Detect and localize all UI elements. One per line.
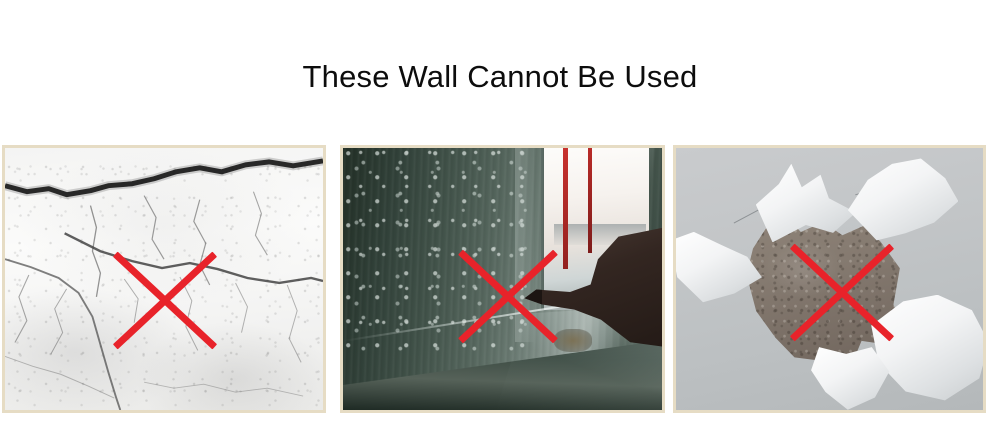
door-trim-red [563, 148, 568, 269]
water-droplets-texture [343, 148, 541, 352]
crack-network-overlay [5, 148, 323, 410]
page-title: These Wall Cannot Be Used [0, 58, 1000, 96]
panel-cracked-wall [2, 145, 326, 413]
panel-peeling-wall [673, 145, 986, 413]
peeling-wall-photo [676, 148, 983, 410]
cracked-wall-photo [5, 148, 323, 410]
wallpaper-flap-left [676, 232, 762, 305]
panel-strip [0, 145, 1000, 415]
floor-damp-patch [554, 329, 592, 353]
door-trim-red-secondary [588, 148, 592, 253]
wet-wall-base [343, 148, 662, 410]
wallpaper-surface [676, 148, 983, 410]
panel-wet-wall [340, 145, 665, 413]
wet-wall-photo [343, 148, 662, 410]
